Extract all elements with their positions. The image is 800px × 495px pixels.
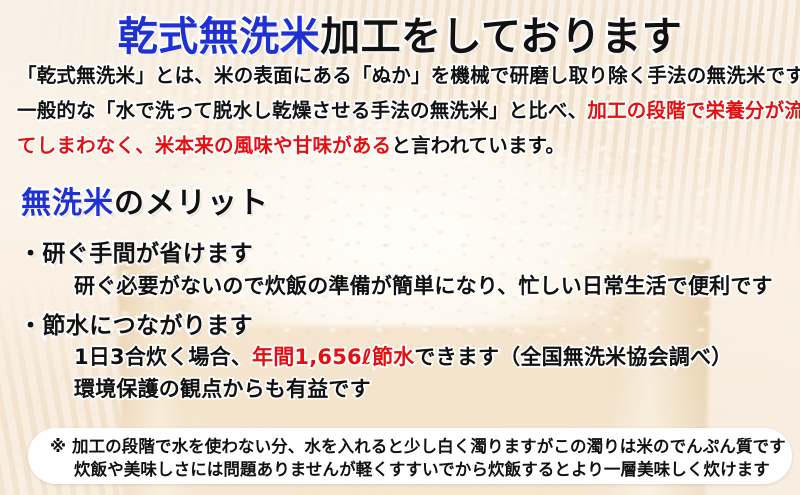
- intro-line-1-segment-1: 「乾式無洗米」とは、米の表面にある「ぬか」を機械で研磨し取り除く手法の無洗米です…: [17, 64, 800, 87]
- merit-heading-rest: のメリット: [114, 186, 269, 221]
- intro-line-3-segment-3: と言われています。: [391, 134, 565, 157]
- footnote-line-2: 炊飯や美味しさには問題ありませんが軽くすすいでから炊飯するとより一層美味しく炊け…: [74, 462, 770, 479]
- intro-line-3-segment-1: てしまわなく、: [17, 134, 155, 157]
- poster-title: 乾式無洗米加工をしております: [0, 17, 800, 57]
- intro-line-2: 一般的な「水で洗って脱水し乾燥させる手法の無洗米」と比べ、加工の段階で栄養分が流…: [17, 101, 800, 121]
- merit-section-heading: 無洗米のメリット: [21, 189, 269, 219]
- intro-line-2-segment-1: 一般的な「水で洗って脱水し乾燥させる手法の無洗米」と比べ、: [17, 99, 587, 122]
- intro-line-3-segment-2: 米本来の風味や甘味がある: [155, 134, 391, 157]
- merit-1-subline-1: 研ぐ必要がないので炊飯の準備が簡単になり、忙しい日常生活で便利です: [74, 276, 773, 297]
- merit-2-subline-2-segment-1: 環境保護の観点からも有益です: [74, 377, 371, 401]
- merit-2-subline-1: 1日3合炊く場合、年間1,656ℓ節水できます（全国無洗米協会調べ）: [74, 347, 732, 368]
- footnote-line-1: ※ 加工の段階で水を使わない分、水を入れると少し白く濁りますがこの濁りは米のでん…: [50, 439, 786, 456]
- promo-poster: 乾式無洗米加工をしております 「乾式無洗米」とは、米の表面にある「ぬか」を機械で…: [0, 0, 800, 495]
- footnote-box: ※ 加工の段階で水を使わない分、水を入れると少し白く濁りますがこの濁りは米のでん…: [28, 428, 792, 484]
- merit-heading-highlight: 無洗米: [21, 186, 114, 221]
- merit-1-subline-1-segment-1: 研ぐ必要がないので炊飯の準備が簡単になり、忙しい日常生活で便利です: [74, 274, 773, 298]
- title-rest: 加工をしております: [320, 14, 682, 60]
- merit-2-bullet: ・節水につながります: [19, 315, 253, 338]
- merit-2-subline-1-segment-2: 年間1,656ℓ節水: [252, 345, 414, 369]
- intro-line-2-segment-2: 加工の段階で栄養分が流れ: [587, 99, 800, 122]
- intro-line-1: 「乾式無洗米」とは、米の表面にある「ぬか」を機械で研磨し取り除く手法の無洗米です…: [17, 66, 800, 86]
- intro-line-3: てしまわなく、米本来の風味や甘味があると言われています。: [17, 136, 565, 156]
- merit-1-bullet: ・研ぐ手間が省けます: [19, 243, 253, 266]
- merit-2-subline-2: 環境保護の観点からも有益です: [74, 379, 371, 400]
- merit-2-subline-1-segment-3: できます（全国無洗米協会調べ）: [414, 345, 732, 369]
- title-highlight: 乾式無洗米: [118, 14, 321, 60]
- merit-2-subline-1-segment-1: 1日3合炊く場合、: [74, 345, 252, 369]
- poster-content: 乾式無洗米加工をしております 「乾式無洗米」とは、米の表面にある「ぬか」を機械で…: [0, 0, 800, 495]
